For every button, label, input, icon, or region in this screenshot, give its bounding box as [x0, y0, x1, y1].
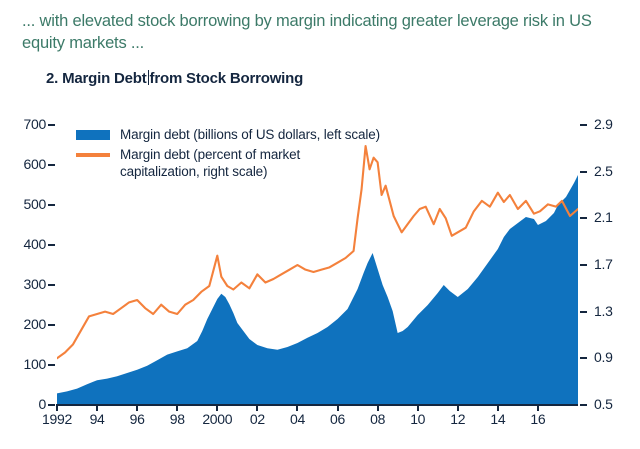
x-axis-tick-label: 94 — [90, 411, 105, 427]
x-axis-tick-label: 06 — [330, 411, 345, 427]
x-axis-tick — [377, 404, 379, 411]
y-axis-left-tick — [48, 244, 55, 246]
y-axis-right-tick-label: 2.9 — [594, 116, 613, 132]
y-axis-right-tick — [580, 124, 587, 126]
x-axis-tick — [417, 404, 419, 411]
x-axis-tick — [256, 404, 258, 411]
y-axis-left-tick-label: 0 — [0, 396, 46, 412]
y-axis-left-tick — [48, 284, 55, 286]
y-axis-right-tick — [580, 217, 587, 219]
x-axis-tick-label: 2000 — [202, 411, 232, 427]
x-axis-tick — [497, 404, 499, 411]
series-area-margin-debt-billions — [57, 175, 578, 405]
y-axis-right-tick-label: 2.1 — [594, 209, 613, 225]
x-axis-tick-label: 04 — [290, 411, 305, 427]
x-axis-tick — [216, 404, 218, 411]
x-axis-tick-label: 1992 — [42, 411, 72, 427]
y-axis-left-tick — [48, 164, 55, 166]
plot-area — [57, 125, 578, 405]
y-axis-right-tick-label: 2.5 — [594, 163, 613, 179]
x-axis-tick — [537, 404, 539, 411]
y-axis-right-tick-label: 1.3 — [594, 303, 613, 319]
x-axis-tick-label: 98 — [170, 411, 185, 427]
page-title: 2. Margin Debtfrom Stock Borrowing — [46, 70, 303, 87]
x-axis-line — [57, 404, 578, 406]
x-axis-tick-label: 14 — [490, 411, 505, 427]
x-axis-tick — [457, 404, 459, 411]
y-axis-right-tick — [580, 264, 587, 266]
x-axis-tick — [56, 404, 58, 411]
y-axis-left-tick-label: 700 — [0, 116, 46, 132]
y-axis-left-tick-label: 500 — [0, 196, 46, 212]
x-axis-tick — [296, 404, 298, 411]
y-axis-right-tick — [580, 311, 587, 313]
y-axis-right-tick — [580, 404, 587, 406]
y-axis-left-tick-label: 600 — [0, 156, 46, 172]
x-axis-tick — [136, 404, 138, 411]
x-axis-tick — [96, 404, 98, 411]
panel-title-part1: 2. Margin Debt — [46, 70, 147, 87]
y-axis-left-tick-label: 200 — [0, 316, 46, 332]
x-axis-tick-label: 10 — [410, 411, 425, 427]
y-axis-left-tick — [48, 364, 55, 366]
y-axis-left-tick — [48, 124, 55, 126]
x-axis-tick-label: 02 — [250, 411, 265, 427]
y-axis-right-tick — [580, 357, 587, 359]
x-axis-tick — [176, 404, 178, 411]
y-axis-left-tick-label: 300 — [0, 276, 46, 292]
y-axis-right-tick-label: 1.7 — [594, 256, 613, 272]
y-axis-right-tick-label: 0.5 — [594, 396, 613, 412]
chart-panel: ... with elevated stock borrowing by mar… — [0, 0, 640, 449]
headline-text: ... with elevated stock borrowing by mar… — [22, 10, 622, 54]
x-axis-tick — [337, 404, 339, 411]
y-axis-right-tick — [580, 171, 587, 173]
y-axis-left-tick — [48, 204, 55, 206]
x-axis-tick-label: 12 — [450, 411, 465, 427]
x-axis-tick-label: 16 — [530, 411, 545, 427]
y-axis-left-tick-label: 100 — [0, 356, 46, 372]
text-caret — [148, 70, 149, 85]
x-axis-tick-label: 08 — [370, 411, 385, 427]
y-axis-right-tick-label: 0.9 — [594, 349, 613, 365]
y-axis-left-tick — [48, 404, 55, 406]
y-axis-left-tick-label: 400 — [0, 236, 46, 252]
panel-title-part2: from Stock Borrowing — [150, 70, 304, 87]
chart-svg — [57, 125, 578, 405]
y-axis-left-tick — [48, 324, 55, 326]
x-axis-tick-label: 96 — [130, 411, 145, 427]
